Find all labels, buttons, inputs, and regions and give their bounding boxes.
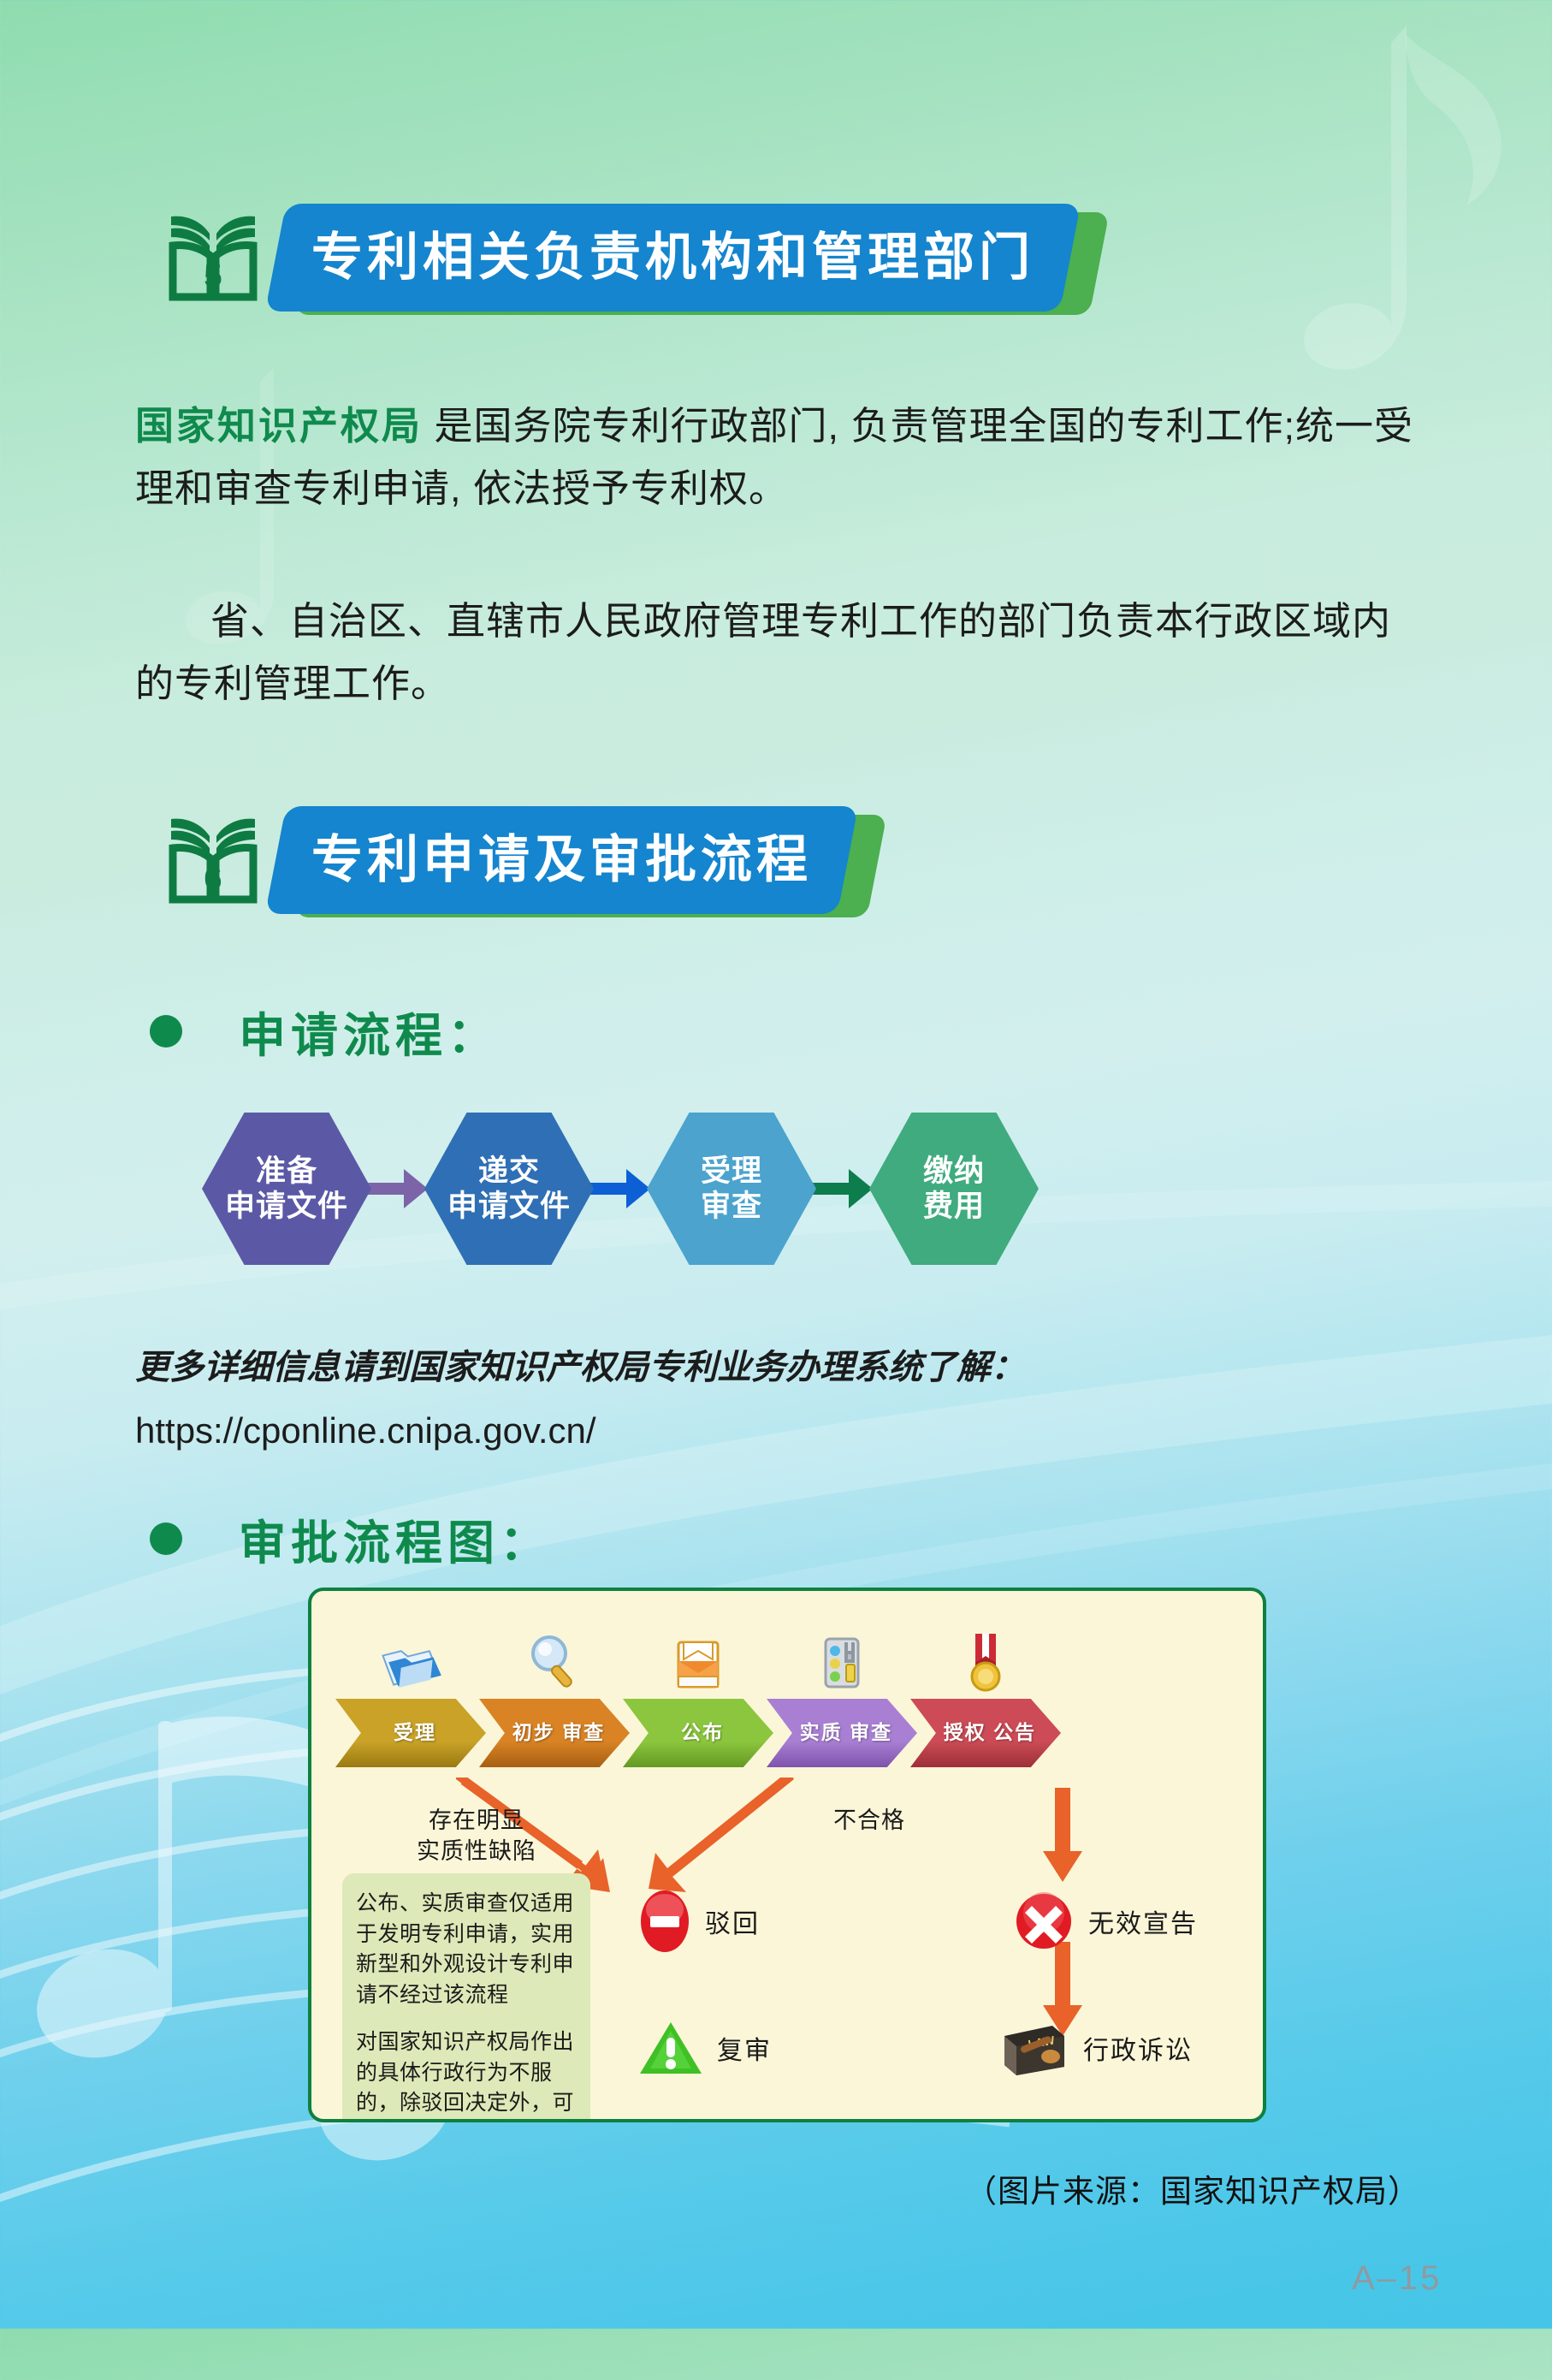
heading-apply-flow: 申请流程： xyxy=(150,997,500,1065)
heading-apply-flow-label: 申请流程： xyxy=(239,997,500,1065)
outcome-reject: 驳回 xyxy=(638,1889,760,1954)
approval-step-chevron: 实质 审查 xyxy=(767,1699,917,1767)
section-header-5: 5 专利相关负责机构和管理部门 xyxy=(163,204,1070,312)
label-unqualified: 不合格 xyxy=(801,1805,938,1836)
approval-step-label: 受理 xyxy=(394,1722,436,1743)
flow-step-line1: 缴纳 xyxy=(923,1154,985,1189)
outcome-litigation-label: 行政诉讼 xyxy=(1083,2029,1193,2067)
bullet-dot-icon xyxy=(150,1522,182,1555)
paragraph-agency: 国家知识产权局 是国务院专利行政部门, 负责管理全国的专利工作;统一受理和审查专… xyxy=(135,395,1419,520)
flow-step-line1: 递交 xyxy=(478,1154,540,1189)
agency-name: 国家知识产权局 xyxy=(135,404,423,448)
approval-step-preliminary: 初步 审查 xyxy=(479,1620,630,1767)
approval-step-chevron: 初步 审查 xyxy=(479,1699,630,1767)
open-book-icon: 6 xyxy=(163,814,264,906)
banner-blue-body: 专利相关负责机构和管理部门 xyxy=(265,204,1081,312)
outcome-invalidation-label: 无效宣告 xyxy=(1088,1902,1198,1940)
section-header-6: 6 专利申请及审批流程 xyxy=(163,806,848,914)
approval-step-label: 公布 xyxy=(681,1722,724,1743)
more-info-text: 更多详细信息请到国家知识产权局专利业务办理系统了解： xyxy=(135,1339,1025,1389)
outcome-invalidation: 无效宣告 xyxy=(1013,1890,1198,1952)
note-paragraph-2: 对国家知识产权局作出的具体行政行为不服的，除驳回决定外，可以申请行政复议 xyxy=(356,2027,577,2122)
apply-flow-diagram: 准备 申请文件 递交 申请文件 受理 审查 缴纳 费用 xyxy=(202,1113,1039,1265)
invalid-icon xyxy=(1013,1890,1075,1952)
approval-step-chevron: 公布 xyxy=(623,1699,773,1767)
section-badge-number: 6 xyxy=(204,861,222,897)
approval-step-label: 初步 审查 xyxy=(512,1722,605,1743)
law-book-icon: LAW xyxy=(996,2017,1069,2079)
flow-step-line1: 受理 xyxy=(701,1154,762,1189)
flow-step-line2: 费用 xyxy=(923,1189,985,1224)
outcome-reexamination: 复审 xyxy=(638,2019,772,2077)
outcome-litigation: LAW 行政诉讼 xyxy=(996,2017,1193,2079)
outcome-reexamination-label: 复审 xyxy=(717,2029,772,2067)
approval-step-label: 授权 公告 xyxy=(944,1722,1036,1743)
flowchart-note-box: 公布、实质审查仅适用于发明专利申请，实用新型和外观设计专利申请不经过该流程 对国… xyxy=(342,1873,590,2122)
flow-step-line2: 申请文件 xyxy=(447,1189,571,1224)
cponline-url[interactable]: https://cponline.cnipa.gov.cn/ xyxy=(135,1410,596,1451)
approval-step-chevron: 受理 xyxy=(335,1699,486,1767)
approval-step-publish: 公布 xyxy=(623,1620,773,1767)
page-root: 5 专利相关负责机构和管理部门 国家知识产权局 是国务院专利行政部门, 负责管理… xyxy=(0,0,1552,2329)
flow-step-line1: 准备 xyxy=(256,1154,317,1189)
approval-step-label: 实质 审查 xyxy=(800,1722,892,1743)
section-title-6: 专利申请及审批流程 xyxy=(311,834,812,886)
arrow-unqualified-icon xyxy=(647,1778,801,1897)
toolbox-icon xyxy=(767,1620,917,1694)
section-banner-5: 专利相关负责机构和管理部门 xyxy=(275,204,1070,312)
open-book-icon: 5 xyxy=(163,211,264,304)
bullet-dot-icon xyxy=(150,1015,182,1048)
approval-flowchart-panel: 受理 初步 审查 xyxy=(308,1588,1266,2122)
outcome-reject-label: 驳回 xyxy=(705,1902,760,1940)
note-paragraph-1: 公布、实质审查仅适用于发明专利申请，实用新型和外观设计专利申请不经过该流程 xyxy=(356,1889,577,2010)
arrow-right-icon xyxy=(589,1164,652,1214)
approval-step-chevron: 授权 公告 xyxy=(910,1699,1061,1767)
arrow-right-icon xyxy=(811,1164,874,1214)
flow-step-line2: 审查 xyxy=(701,1189,762,1224)
arrow-right-icon xyxy=(366,1164,429,1214)
folder-icon xyxy=(335,1620,486,1694)
section-badge-number: 5 xyxy=(204,258,222,294)
reject-icon xyxy=(638,1889,691,1954)
open-folder-icon xyxy=(623,1620,773,1694)
heading-approval-flow: 审批流程图： xyxy=(150,1505,552,1573)
medal-icon xyxy=(910,1620,1061,1694)
flow-step-submit: 递交 申请文件 xyxy=(424,1113,594,1265)
approval-step-row: 受理 初步 审查 xyxy=(335,1620,1054,1767)
flow-step-pay-fee: 缴纳 费用 xyxy=(869,1113,1039,1265)
label-substantive-defect: 存在明显 实质性缺陷 xyxy=(387,1805,566,1867)
warning-icon xyxy=(638,2019,703,2077)
flow-step-line2: 申请文件 xyxy=(225,1189,348,1224)
paragraph-local-authority: 省、自治区、直辖市人民政府管理专利工作的部门负责本行政区域内的专利管理工作。 xyxy=(135,591,1419,715)
magnifier-icon xyxy=(479,1620,630,1694)
flow-step-accept-review: 受理 审查 xyxy=(647,1113,816,1265)
approval-step-grant: 授权 公告 xyxy=(910,1620,1061,1767)
heading-approval-flow-label: 审批流程图： xyxy=(239,1505,552,1573)
approval-step-accept: 受理 xyxy=(335,1620,486,1767)
section-banner-6: 专利申请及审批流程 xyxy=(275,806,848,914)
arrow-down-invalid-icon xyxy=(1043,1788,1082,1884)
flow-step-prepare: 准备 申请文件 xyxy=(202,1113,371,1265)
section-title-5: 专利相关负责机构和管理部门 xyxy=(311,232,1034,283)
image-source-caption: （图片来源：国家知识产权局） xyxy=(965,2165,1420,2211)
page-number: A–15 xyxy=(1352,2259,1442,2298)
banner-blue-body: 专利申请及审批流程 xyxy=(265,806,858,914)
approval-step-substantive: 实质 审查 xyxy=(767,1620,917,1767)
